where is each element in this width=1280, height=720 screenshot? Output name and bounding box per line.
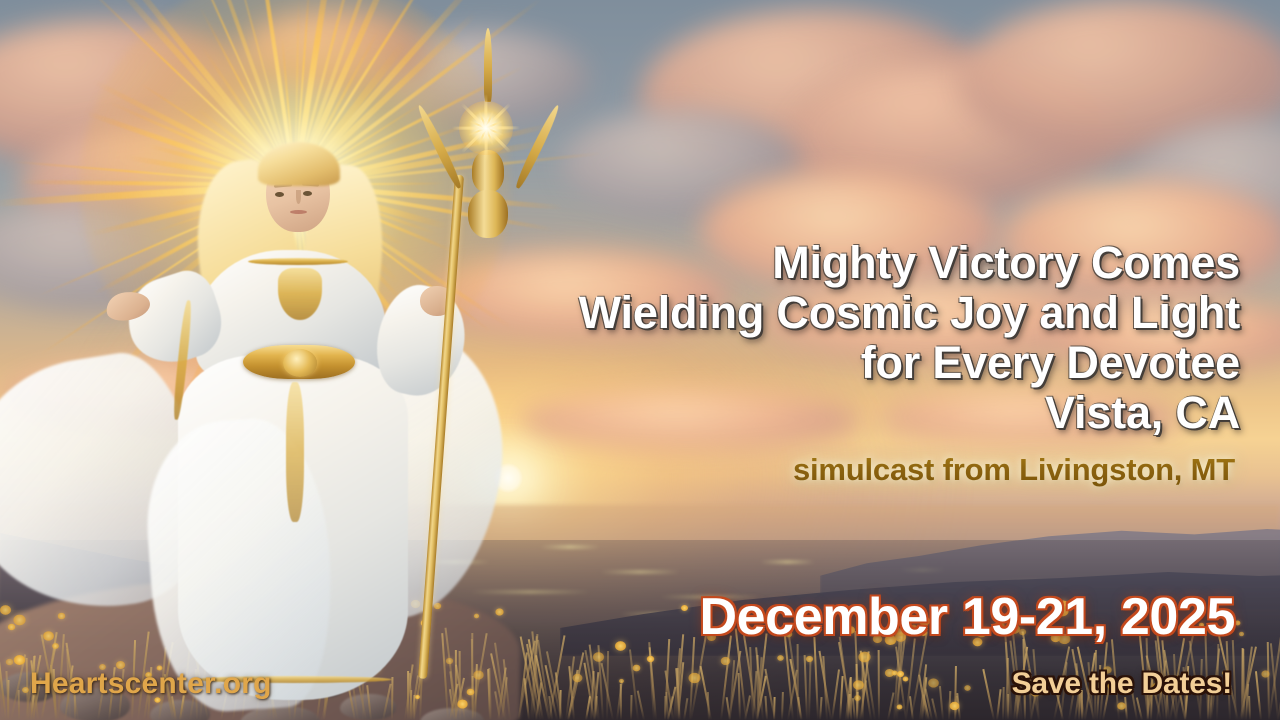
save-the-dates-callout: Save the Dates! xyxy=(1012,667,1232,701)
headline-line-4: Vista, CA xyxy=(1045,388,1240,438)
headline-line-1: Mighty Victory Comes xyxy=(772,238,1240,288)
event-date: December 19-21, 2025 xyxy=(700,587,1236,647)
text-overlay: Mighty Victory Comes Wielding Cosmic Joy… xyxy=(0,0,1280,720)
website-watermark[interactable]: Heartscenter.org xyxy=(30,667,272,701)
simulcast-location: simulcast from Livingston, MT xyxy=(793,452,1235,488)
headline-line-2: Wielding Cosmic Joy and Light xyxy=(579,288,1240,338)
headline-line-3: for Every Devotee xyxy=(861,338,1240,388)
event-promo-poster: Mighty Victory Comes Wielding Cosmic Joy… xyxy=(0,0,1280,720)
